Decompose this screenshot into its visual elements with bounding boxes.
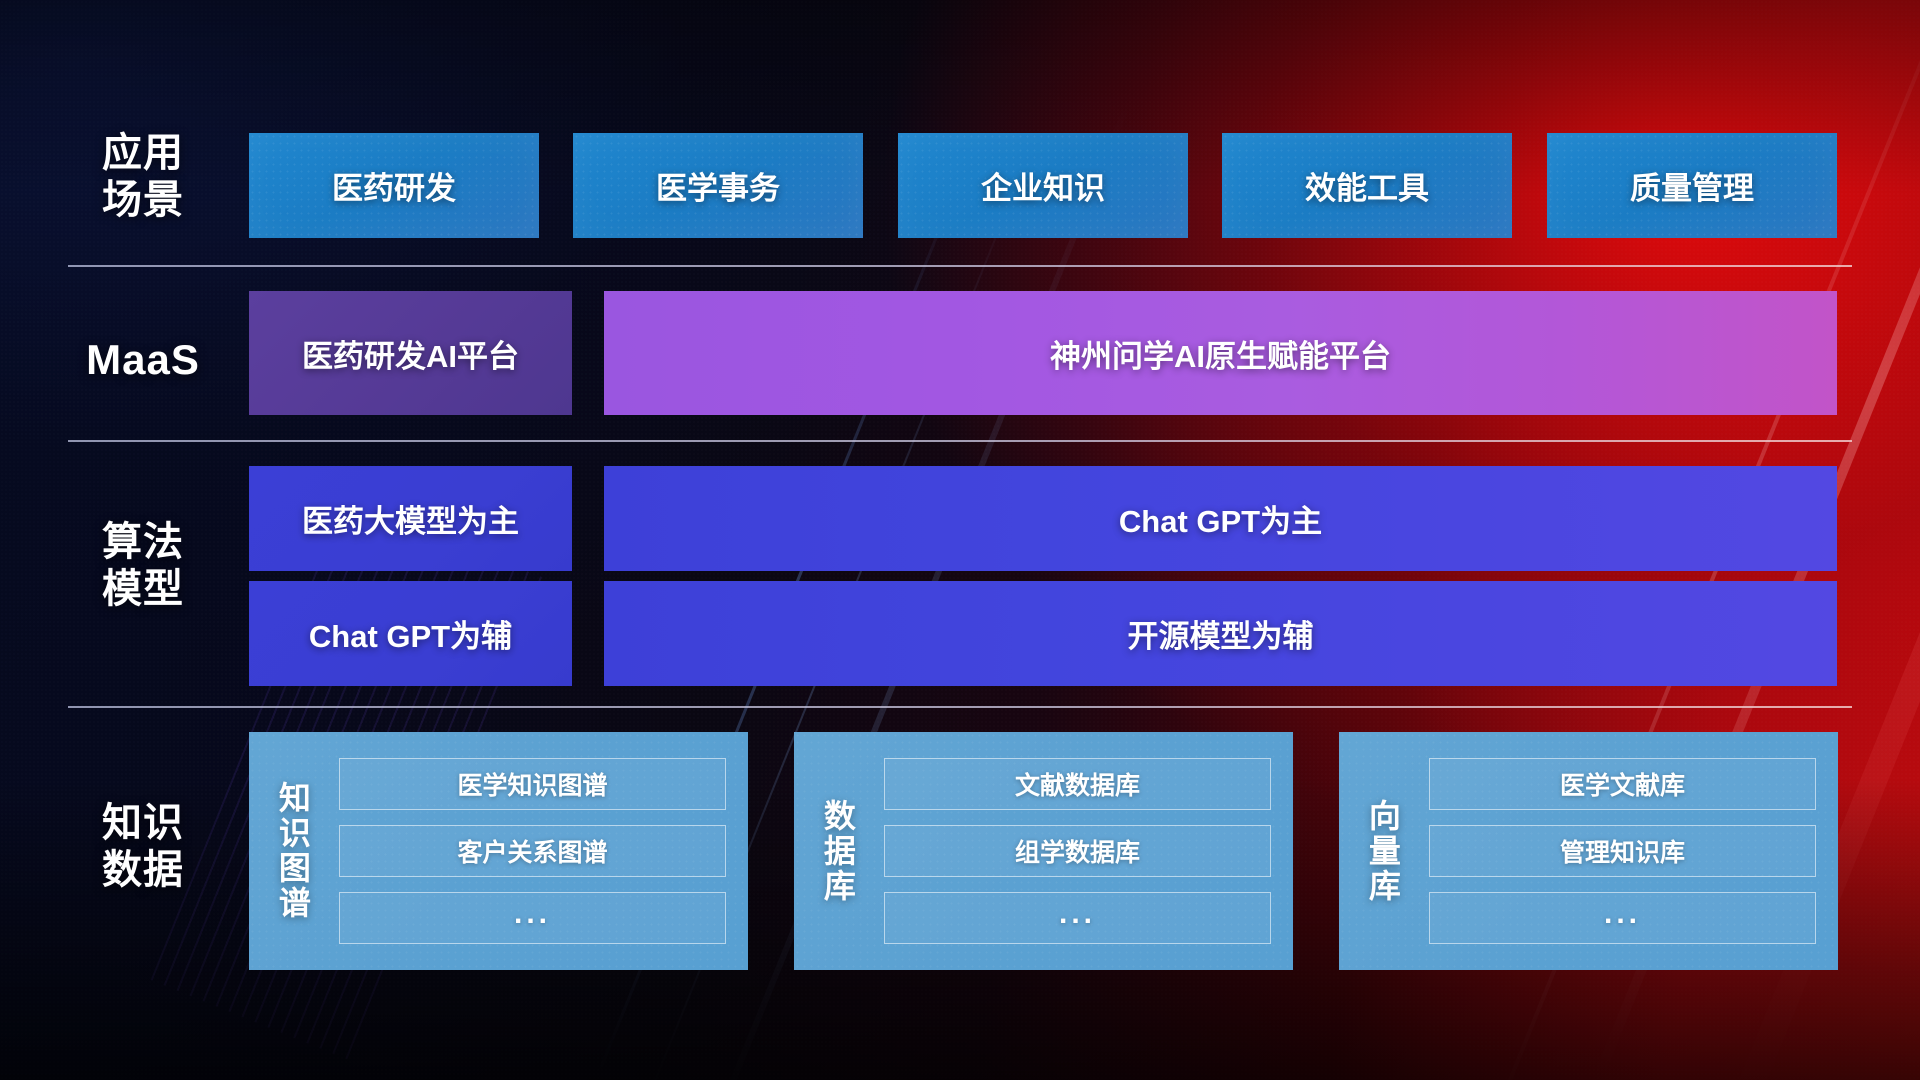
knowledge-item[interactable]: 医学知识图谱	[339, 758, 726, 810]
knowledge-item[interactable]: 组学数据库	[884, 825, 1271, 877]
knowledge-item[interactable]: 管理知识库	[1429, 825, 1816, 877]
knowledge-panel-title-vector: 向量库	[1339, 732, 1425, 970]
knowledge-item-more[interactable]: ...	[1429, 892, 1816, 944]
app-scenario-label-2: 医学事务	[656, 163, 780, 208]
app-scenario-box-5[interactable]: 质量管理	[1547, 133, 1837, 238]
knowledge-item-list-database: 文献数据库 组学数据库 ...	[880, 732, 1293, 970]
knowledge-panel-vector[interactable]: 向量库 医学文献库 管理知识库 ...	[1339, 732, 1838, 970]
algorithm-main-box-1[interactable]: Chat GPT为主	[604, 466, 1837, 571]
algorithm-main-label-1: Chat GPT为主	[1119, 496, 1322, 541]
algorithm-left-label-2: Chat GPT为辅	[309, 611, 512, 656]
maas-enablement-platform-bar[interactable]: 神州问学AI原生赋能平台	[604, 291, 1837, 415]
knowledge-item-more[interactable]: ...	[339, 892, 726, 944]
row-label-maas: MaaS	[68, 335, 218, 385]
algorithm-left-box-1[interactable]: 医药大模型为主	[249, 466, 572, 571]
knowledge-panel-graph[interactable]: 知识图谱 医学知识图谱 客户关系图谱 ...	[249, 732, 748, 970]
maas-platform-label: 医药研发AI平台	[302, 331, 519, 376]
knowledge-item-more[interactable]: ...	[884, 892, 1271, 944]
row-label-application: 应用 场景	[68, 130, 218, 224]
knowledge-item[interactable]: 客户关系图谱	[339, 825, 726, 877]
knowledge-panel-database[interactable]: 数据库 文献数据库 组学数据库 ...	[794, 732, 1293, 970]
app-scenario-box-2[interactable]: 医学事务	[573, 133, 863, 238]
app-scenario-box-3[interactable]: 企业知识	[898, 133, 1188, 238]
knowledge-item-list-vector: 医学文献库 管理知识库 ...	[1425, 732, 1838, 970]
divider-2	[68, 440, 1852, 442]
algorithm-left-label-1: 医药大模型为主	[302, 496, 519, 541]
knowledge-item[interactable]: 文献数据库	[884, 758, 1271, 810]
divider-1	[68, 265, 1852, 267]
algorithm-left-box-2[interactable]: Chat GPT为辅	[249, 581, 572, 686]
app-scenario-label-3: 企业知识	[981, 163, 1105, 208]
row-label-knowledge: 知识 数据	[68, 800, 218, 894]
knowledge-panel-title-graph: 知识图谱	[249, 732, 335, 970]
app-scenario-label-5: 质量管理	[1630, 163, 1754, 208]
knowledge-item[interactable]: 医学文献库	[1429, 758, 1816, 810]
maas-platform-box[interactable]: 医药研发AI平台	[249, 291, 572, 415]
algorithm-main-label-2: 开源模型为辅	[1128, 611, 1314, 656]
app-scenario-label-1: 医药研发	[332, 163, 456, 208]
row-label-algorithm: 算法 模型	[68, 519, 218, 613]
architecture-diagram: 应用 场景 医药研发 医学事务 企业知识 效能工具 质量管理 MaaS 医药研发…	[0, 0, 1920, 1080]
algorithm-main-box-2[interactable]: 开源模型为辅	[604, 581, 1837, 686]
app-scenario-box-4[interactable]: 效能工具	[1222, 133, 1512, 238]
app-scenario-label-4: 效能工具	[1305, 163, 1429, 208]
knowledge-item-list-graph: 医学知识图谱 客户关系图谱 ...	[335, 732, 748, 970]
divider-3	[68, 706, 1852, 708]
maas-enablement-platform-label: 神州问学AI原生赋能平台	[1050, 331, 1391, 376]
knowledge-panel-title-database: 数据库	[794, 732, 880, 970]
app-scenario-box-1[interactable]: 医药研发	[249, 133, 539, 238]
